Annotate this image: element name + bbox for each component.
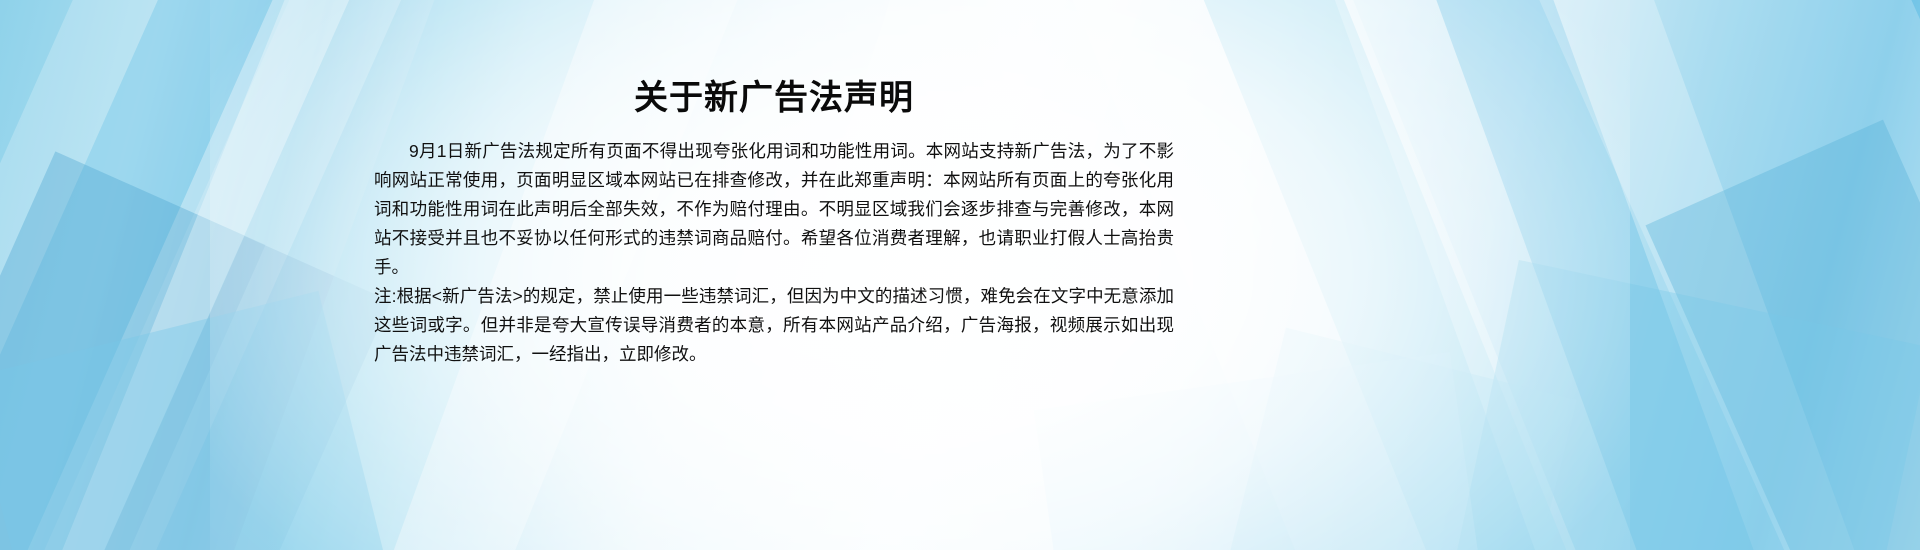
- decorative-shape-2: [0, 0, 348, 550]
- decorative-shape-3: [0, 0, 370, 550]
- decorative-shape-11: [1147, 0, 1623, 550]
- page-title: 关于新广告法声明: [374, 78, 1174, 119]
- decorative-shape-5: [69, 236, 390, 550]
- decorative-shape-12: [1305, 0, 1895, 550]
- statement-paragraph-note: 注:根据<新广告法>的规定，禁止使用一些违禁词汇，但因为中文的描述习惯，难免会在…: [374, 282, 1174, 369]
- decorative-shape-8: [0, 291, 391, 550]
- decorative-shape-1: [0, 0, 410, 550]
- decorative-shape-15: [1645, 120, 1920, 550]
- decorative-shape-13: [1409, 0, 1820, 550]
- decorative-shape-17: [1223, 328, 1577, 550]
- decorative-shape-4: [0, 151, 265, 550]
- statement-content: 关于新广告法声明 9月1日新广告法规定所有页面不得出现夸张化用词和功能性用词。本…: [374, 78, 1174, 369]
- decorative-shape-16: [1450, 260, 1920, 550]
- statement-paragraph-main: 9月1日新广告法规定所有页面不得出现夸张化用词和功能性用词。本网站支持新广告法，…: [374, 137, 1174, 282]
- decorative-shape-14: [1491, 0, 1920, 550]
- decorative-shape-18: [1034, 352, 1486, 550]
- advertising-law-statement-banner: 关于新广告法声明 9月1日新广告法规定所有页面不得出现夸张化用词和功能性用词。本…: [0, 0, 1920, 550]
